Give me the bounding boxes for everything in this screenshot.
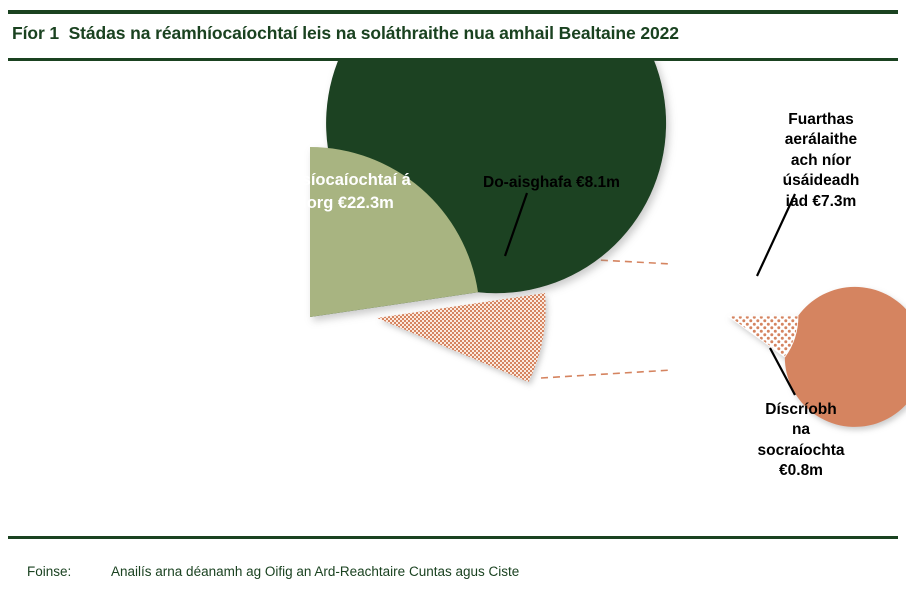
source-note: Foinse:Anailís arna déanamh ag Oifig an … bbox=[12, 549, 519, 594]
source-text: Anailís arna déanamh ag Oifig an Ard-Rea… bbox=[111, 564, 519, 579]
top-rule bbox=[8, 10, 898, 14]
callout-label-do-aisghafa: Do-aisghafa €8.1m bbox=[483, 173, 673, 193]
callout-label-discriobh: Díscríobh na socraíochta €0.8m bbox=[716, 400, 886, 482]
bottom-rule bbox=[8, 536, 898, 539]
pie-slice-discriobh[interactable] bbox=[728, 316, 798, 357]
page-title: Fíor 1 Stádas na réamhíocaíochtaí leis n… bbox=[12, 23, 679, 44]
source-label: Foinse: bbox=[27, 564, 111, 579]
pie-slice-do-aisghafa-group bbox=[377, 293, 546, 382]
figure-container: Fíor 1 Stádas na réamhíocaíochtaí leis n… bbox=[0, 0, 906, 578]
callout-label-fuarthas: Fuarthas aerálaithe ach níor úsáideadh i… bbox=[742, 110, 900, 212]
chart-canvas: Aisíocaíochtaí á lorg €22.3m Aisíoctha €… bbox=[0, 60, 906, 536]
pie-slice-do-aisghafa[interactable] bbox=[377, 293, 546, 382]
